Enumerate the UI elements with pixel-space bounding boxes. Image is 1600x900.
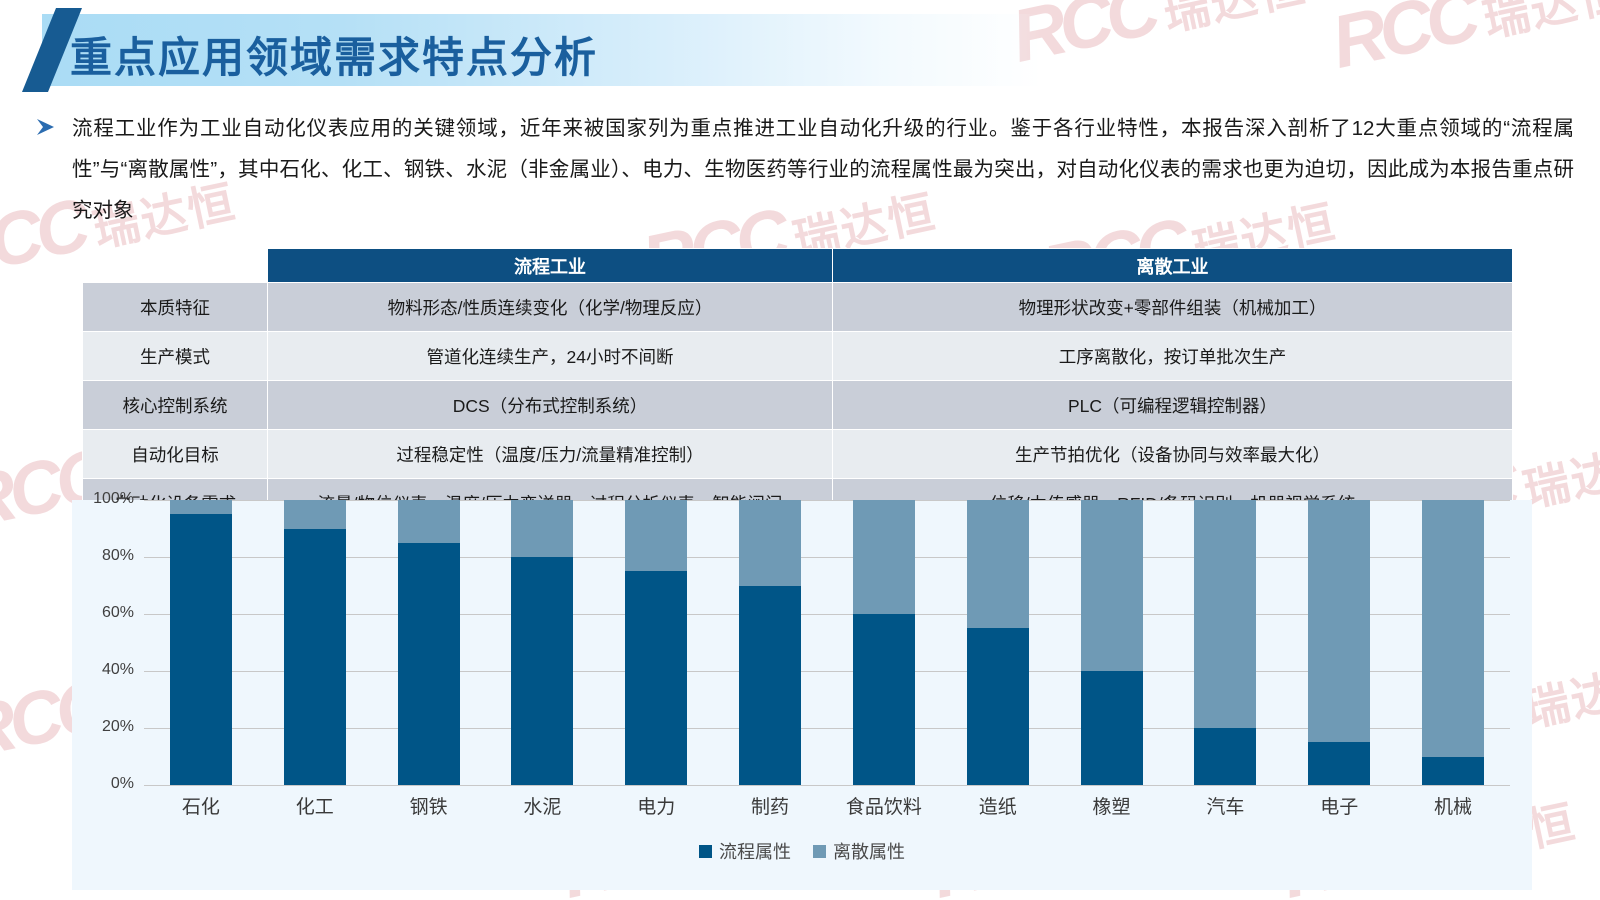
table-header-process: 流程工业 <box>268 249 833 283</box>
bar-stack <box>625 500 687 785</box>
bar-segment-process <box>1081 671 1143 785</box>
bar-column <box>599 500 713 785</box>
watermark-rcc: RCC瑞达恒 <box>1004 0 1312 79</box>
bar-column <box>372 500 486 785</box>
x-axis-label: 水泥 <box>485 792 599 819</box>
slide-page: RCC瑞达恒RCC瑞达恒RCC瑞达恒RCC瑞达恒RCC瑞达恒RCC瑞达恒RCC瑞… <box>0 0 1600 900</box>
y-axis-tick-label: 40% <box>72 661 134 679</box>
x-axis-label: 电子 <box>1282 792 1396 819</box>
bar-segment-discrete <box>739 500 801 586</box>
bar-segment-process <box>511 557 573 785</box>
bar-stack <box>170 500 232 785</box>
bar-segment-discrete <box>1081 500 1143 671</box>
y-axis-tick-label: 80% <box>72 547 134 565</box>
watermark-rcc: RCC瑞达恒 <box>1324 0 1600 85</box>
bar-segment-process <box>853 614 915 785</box>
legend-swatch-icon <box>813 845 826 858</box>
table-row: 自动化目标 过程稳定性（温度/压力/流量精准控制） 生产节拍优化（设备协同与效率… <box>83 430 1513 479</box>
body-block: 流程工业作为工业自动化仪表应用的关键领域，近年来被国家列为重点推进工业自动化升级… <box>34 108 1574 231</box>
page-title: 重点应用领域需求特点分析 <box>70 24 598 85</box>
bar-segment-process <box>1422 757 1484 786</box>
legend-label: 流程属性 <box>719 838 791 864</box>
legend-item[interactable]: 流程属性 <box>699 838 791 864</box>
arrow-bullet-icon <box>34 116 56 138</box>
table-row: 生产模式 管道化连续生产，24小时不间断 工序离散化，按订单批次生产 <box>83 332 1513 381</box>
row-discrete-cell: 物理形状改变+零部件组装（机械加工） <box>833 283 1513 332</box>
x-axis-label: 食品饮料 <box>827 792 941 819</box>
legend-item[interactable]: 离散属性 <box>813 838 905 864</box>
legend-label: 离散属性 <box>833 838 905 864</box>
bar-stack <box>853 500 915 785</box>
row-label: 核心控制系统 <box>83 381 268 430</box>
row-process-cell: DCS（分布式控制系统） <box>268 381 833 430</box>
bar-segment-process <box>398 543 460 785</box>
bar-stack <box>284 500 346 785</box>
bar-segment-discrete <box>284 500 346 529</box>
bar-segment-discrete <box>625 500 687 571</box>
row-process-cell: 过程稳定性（温度/压力/流量精准控制） <box>268 430 833 479</box>
bar-column <box>1282 500 1396 785</box>
bar-stack <box>1308 500 1370 785</box>
row-discrete-cell: PLC（可编程逻辑控制器） <box>833 381 1513 430</box>
x-axis-label: 钢铁 <box>372 792 486 819</box>
x-axis-label: 造纸 <box>941 792 1055 819</box>
bar-segment-process <box>739 586 801 786</box>
x-axis-label: 石化 <box>144 792 258 819</box>
stacked-bar-chart: 0%20%40%60%80%100% 石化化工钢铁水泥电力制药食品饮料造纸橡塑汽… <box>72 500 1532 890</box>
bar-column <box>258 500 372 785</box>
legend-swatch-icon <box>699 845 712 858</box>
bar-stack <box>511 500 573 785</box>
bar-column <box>1168 500 1282 785</box>
x-axis-label: 橡塑 <box>1055 792 1169 819</box>
table-row: 核心控制系统 DCS（分布式控制系统） PLC（可编程逻辑控制器） <box>83 381 1513 430</box>
bar-stack <box>739 500 801 785</box>
bar-segment-process <box>625 571 687 785</box>
x-axis-label: 机械 <box>1396 792 1510 819</box>
bar-segment-discrete <box>511 500 573 557</box>
x-axis-label: 汽车 <box>1168 792 1282 819</box>
bar-column <box>1396 500 1510 785</box>
bar-column <box>827 500 941 785</box>
bar-segment-process <box>1194 728 1256 785</box>
x-axis-labels: 石化化工钢铁水泥电力制药食品饮料造纸橡塑汽车电子机械 <box>144 792 1510 819</box>
x-axis-label: 化工 <box>258 792 372 819</box>
body-paragraph: 流程工业作为工业自动化仪表应用的关键领域，近年来被国家列为重点推进工业自动化升级… <box>72 108 1574 231</box>
bar-column <box>713 500 827 785</box>
table-row: 本质特征 物料形态/性质连续变化（化学/物理反应） 物理形状改变+零部件组装（机… <box>83 283 1513 332</box>
bar-segment-process <box>1308 742 1370 785</box>
bar-segment-discrete <box>1194 500 1256 728</box>
bar-stack <box>1194 500 1256 785</box>
row-label: 生产模式 <box>83 332 268 381</box>
bar-column <box>941 500 1055 785</box>
y-axis-tick-label: 60% <box>72 604 134 622</box>
bar-segment-process <box>284 529 346 786</box>
x-axis-label: 电力 <box>599 792 713 819</box>
row-process-cell: 物料形态/性质连续变化（化学/物理反应） <box>268 283 833 332</box>
bar-segment-discrete <box>1308 500 1370 742</box>
row-discrete-cell: 工序离散化，按订单批次生产 <box>833 332 1513 381</box>
comparison-table: 流程工业 离散工业 本质特征 物料形态/性质连续变化（化学/物理反应） 物理形状… <box>82 248 1513 528</box>
row-process-cell: 管道化连续生产，24小时不间断 <box>268 332 833 381</box>
bar-column <box>144 500 258 785</box>
bar-segment-discrete <box>853 500 915 614</box>
bar-stack <box>1081 500 1143 785</box>
row-discrete-cell: 生产节拍优化（设备协同与效率最大化） <box>833 430 1513 479</box>
bar-stack <box>1422 500 1484 785</box>
bar-stack <box>398 500 460 785</box>
bar-segment-process <box>170 514 232 785</box>
table-header-blank <box>83 249 268 283</box>
bar-column <box>1055 500 1169 785</box>
bar-segment-discrete <box>967 500 1029 628</box>
bar-segment-process <box>967 628 1029 785</box>
bar-segment-discrete <box>170 500 232 514</box>
bar-column <box>485 500 599 785</box>
y-axis-tick-label: 20% <box>72 718 134 736</box>
bar-segment-discrete <box>1422 500 1484 757</box>
chart-legend: 流程属性离散属性 <box>72 838 1532 864</box>
x-axis-label: 制药 <box>713 792 827 819</box>
bar-series-area <box>144 500 1510 785</box>
y-axis-tick-label: 0% <box>72 775 134 793</box>
table-header-row: 流程工业 离散工业 <box>83 249 1513 283</box>
gridline <box>144 785 1510 786</box>
bar-segment-discrete <box>398 500 460 543</box>
row-label: 本质特征 <box>83 283 268 332</box>
row-label: 自动化目标 <box>83 430 268 479</box>
y-axis-tick-label: 100% <box>72 490 134 508</box>
bar-stack <box>967 500 1029 785</box>
table-header-discrete: 离散工业 <box>833 249 1513 283</box>
